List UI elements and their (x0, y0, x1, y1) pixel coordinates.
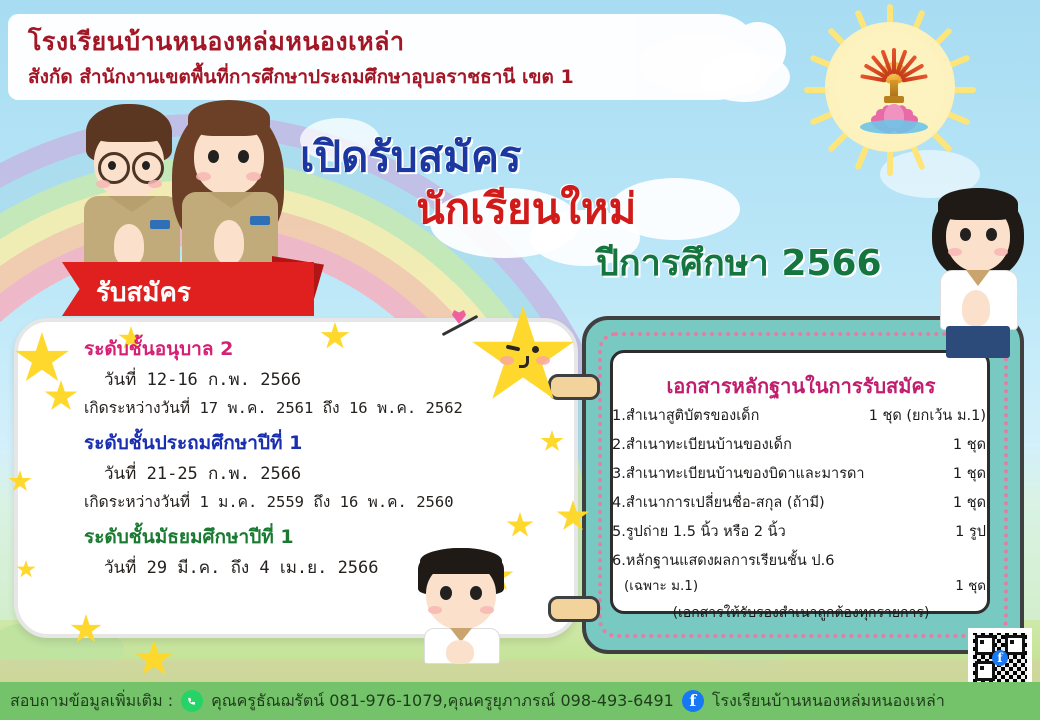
footer-facebook-page: โรงเรียนบ้านหนองหล่มหนองเหล่า (712, 689, 945, 714)
facebook-icon[interactable]: f (682, 690, 704, 712)
document-qty: 1 ชุด (ยกเว้น ม.1) (863, 404, 986, 427)
school-name: โรงเรียนบ้านหนองหล่มหนองเหล่า (28, 22, 405, 62)
document-qty: 1 ชุด (947, 491, 986, 514)
document-row: 1.สำเนาสูติบัตรของเด็ก 1 ชุด (ยกเว้น ม.1… (608, 404, 994, 427)
school-emblem-icon (838, 30, 950, 142)
document-qty: 1 ชุด (947, 462, 986, 485)
facebook-qr-code[interactable]: f (968, 628, 1032, 688)
documents-title: เอกสารหลักฐานในการรับสมัคร (604, 370, 998, 402)
poster-title: เปิดรับสมัคร นักเรียนใหม่ ปีการศึกษา 256… (300, 136, 940, 284)
document-text: 6.หลักฐานแสดงผลการเรียนชั้น ป.6 (612, 549, 834, 572)
panel-tab (548, 596, 600, 622)
whatsapp-phone-icon[interactable] (181, 690, 203, 712)
qr-finder (975, 635, 995, 655)
footer-prefix: สอบถามข้อมูลเพิ่มเติม : (10, 689, 173, 714)
star-face (470, 306, 576, 408)
documents-note: (เอกสารให้รับรองสำเนาถูกต้องทุกรายการ) (608, 602, 994, 624)
footer-bar: สอบถามข้อมูลเพิ่มเติม : คุณครูธัณฌรัตน์ … (0, 682, 1040, 720)
student-girl-cartoon (928, 188, 1028, 358)
document-text: 1.สำเนาสูติบัตรของเด็ก (612, 404, 759, 427)
document-row: 3.สำเนาทะเบียนบ้านของบิดาและมารดา 1 ชุด (608, 462, 994, 485)
level-name-primary: ระดับชั้นประถมศึกษาปีที่ 1 (84, 428, 548, 458)
document-row: 4.สำเนาการเปลี่ยนชื่อ-สกุล (ถ้ามี) 1 ชุด (608, 491, 994, 514)
documents-list: 1.สำเนาสูติบัตรของเด็ก 1 ชุด (ยกเว้น ม.1… (608, 404, 994, 624)
document-text: 5.รูปถ่าย 1.5 นิ้ว หรือ 2 นิ้ว (612, 520, 786, 543)
document-text: 4.สำเนาการเปลี่ยนชื่อ-สกุล (ถ้ามี) (612, 491, 825, 514)
admission-poster: โรงเรียนบ้านหนองหล่มหนองเหล่า สังกัด สำน… (0, 0, 1040, 720)
document-row: 2.สำเนาทะเบียนบ้านของเด็ก 1 ชุด (608, 433, 994, 456)
document-qty: 1 ชุด (949, 574, 986, 596)
student-boy-cartoon (412, 548, 512, 660)
ribbon-label: รับสมัคร (96, 272, 191, 313)
document-row: 5.รูปถ่าย 1.5 นิ้ว หรือ 2 นิ้ว 1 รูป (608, 520, 994, 543)
document-text: 3.สำเนาทะเบียนบ้านของบิดาและมารดา (612, 462, 865, 485)
school-department: สังกัด สำนักงานเขตพื้นที่การศึกษาประถมศึ… (28, 62, 574, 92)
apply-dates-primary: วันที่ 21-25 ก.พ. 2566 (104, 460, 548, 487)
water-base (860, 120, 928, 134)
document-row: 6.หลักฐานแสดงผลการเรียนชั้น ป.6 (608, 549, 994, 572)
birth-range-primary: เกิดระหว่างวันที่ 1 ม.ค. 2559 ถึง 16 พ.ค… (84, 489, 548, 514)
facebook-icon: f (992, 650, 1008, 666)
qr-finder (1005, 635, 1025, 655)
document-text: (เฉพาะ ม.1) (624, 574, 698, 596)
document-qty: 1 ชุด (947, 433, 986, 456)
footer-contacts: คุณครูธัณฌรัตน์ 081-976-1079,คุณครูยุภาภ… (211, 689, 674, 714)
title-line-2: นักเรียนใหม่ (416, 186, 940, 232)
title-line-3: ปีการศึกษา 2566 (596, 244, 940, 284)
document-text: 2.สำเนาทะเบียนบ้านของเด็ก (612, 433, 792, 456)
document-qty: 1 รูป (949, 520, 986, 543)
qr-finder (975, 661, 995, 681)
title-line-1: เปิดรับสมัคร (300, 136, 940, 178)
document-row-sub: (เฉพาะ ม.1) 1 ชุด (608, 574, 994, 596)
